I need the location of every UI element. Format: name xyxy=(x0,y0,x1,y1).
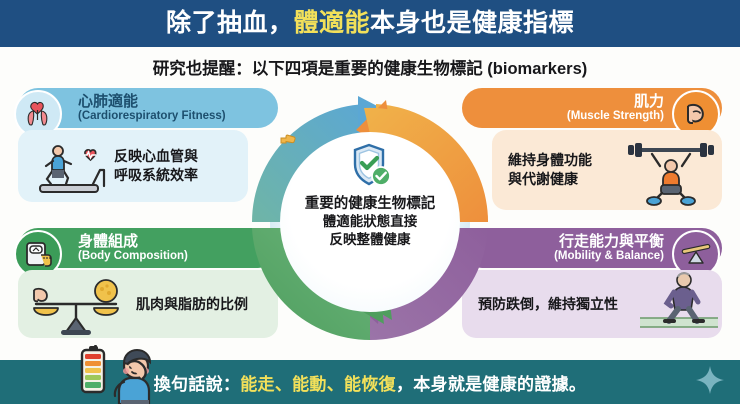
quadrant-cardio-title-en: (Cardiorespiratory Fitness) xyxy=(78,110,226,122)
sparkle-icon xyxy=(692,364,728,400)
quadrant-body-composition-title-en: (Body Composition) xyxy=(78,250,188,262)
shield-check-icon xyxy=(347,142,393,190)
subtitle: 研究也提醒：以下四項是重要的健康生物標記 (biomarkers) xyxy=(0,55,740,79)
center-cycle-ring: 重要的健康生物標記 體適能狀態直接 反映整體健康 xyxy=(236,88,504,356)
center-content: 重要的健康生物標記 體適能狀態直接 反映整體健康 xyxy=(280,132,460,312)
infographic-root: 除了抽血，體適能本身也是健康指標 研究也提醒：以下四項是重要的健康生物標記 (b… xyxy=(0,0,740,404)
treadmill-runner-illustration xyxy=(28,140,120,198)
center-line1: 重要的健康生物標記 xyxy=(305,192,436,213)
quadrant-muscle-title-zh: 肌力 xyxy=(634,94,664,110)
page-title: 除了抽血，體適能本身也是健康指標 xyxy=(166,11,574,36)
walking-person-illustration xyxy=(640,268,718,338)
battery-stretching-person-icon xyxy=(80,344,200,404)
center-line3: 反映整體健康 xyxy=(330,231,411,249)
quadrant-muscle-title-en: (Muscle Strength) xyxy=(567,110,664,122)
muscle-fat-balance-illustration xyxy=(28,276,124,336)
title-highlight: 體適能 xyxy=(293,9,370,37)
footer-highlight: 能走、能動、能恢復 xyxy=(240,375,396,394)
quadrant-muscle-desc: 維持身體功能 與代謝健康 xyxy=(508,151,592,189)
footer-suffix: ，本身就是健康的證據。 xyxy=(396,375,586,394)
title-part2: 本身也是健康指標 xyxy=(370,9,574,37)
quadrant-mobility-title-en: (Mobility & Balance) xyxy=(554,250,664,262)
title-part1: 除了抽血， xyxy=(166,9,294,37)
quadrant-cardio-title-zh: 心肺適能 xyxy=(78,94,226,110)
center-line1-row: 重要的健康生物標記 xyxy=(305,192,436,213)
quadrant-cardio-desc: 反映心血管與 呼吸系統效率 xyxy=(114,147,198,185)
pointing-hand-icon xyxy=(280,132,296,146)
footer-text: 換句話說：能走、能動、能恢復，本身就是健康的證據。 xyxy=(154,370,587,395)
quadrant-body-composition-title-zh: 身體組成 xyxy=(78,234,188,250)
weightlifter-illustration xyxy=(626,140,716,208)
center-line2: 體適能狀態直接 xyxy=(323,213,418,231)
quadrant-body-composition-desc: 肌肉與脂肪的比例 xyxy=(136,295,248,314)
quadrant-mobility-title-zh: 行走能力與平衡 xyxy=(559,234,664,250)
title-bar: 除了抽血，體適能本身也是健康指標 xyxy=(0,0,740,47)
